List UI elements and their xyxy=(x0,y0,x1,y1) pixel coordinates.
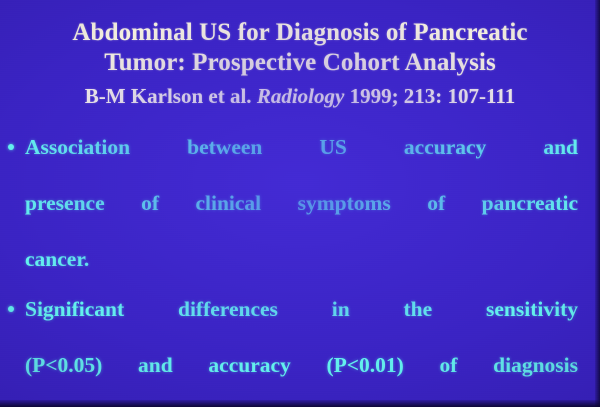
page-title-line-1: Abdominal US for Diagnosis of Pancreatic xyxy=(0,18,600,48)
bullet-significant-differences-text: Significant differences in the sensitivi… xyxy=(25,295,578,407)
bullet-line: presence of clinical symptoms of pancrea… xyxy=(25,189,578,245)
slide-title-block: Abdominal US for Diagnosis of Pancreatic… xyxy=(0,0,600,111)
bullet-line: (P<0.05) and accuracy (P<0.01) of diagno… xyxy=(25,351,578,407)
list-item: Association between US accuracy and pres… xyxy=(0,133,600,273)
bullet-line: Association between US accuracy and xyxy=(25,133,578,189)
bullet-dot-icon xyxy=(8,306,14,312)
citation-authors: B-M Karlson et al. xyxy=(85,84,252,108)
citation-line: B-M Karlson et al. Radiology 1999; 213: … xyxy=(0,81,600,111)
bullet-line: Significant differences in the sensitivi… xyxy=(25,295,578,351)
bullet-dot-icon xyxy=(8,144,14,150)
slide-body: Association between US accuracy and pres… xyxy=(0,133,600,407)
citation-journal: Radiology xyxy=(257,84,345,108)
page-title-line-2: Tumor: Prospective Cohort Analysis xyxy=(0,48,600,78)
bullet-association-text: Association between US accuracy and pres… xyxy=(25,133,578,273)
list-item: Significant differences in the sensitivi… xyxy=(0,295,600,407)
citation-details: 1999; 213: 107-111 xyxy=(350,84,516,108)
slide-content: Abdominal US for Diagnosis of Pancreatic… xyxy=(0,0,600,407)
bullet-line: cancer. xyxy=(25,245,578,273)
presentation-slide: Abdominal US for Diagnosis of Pancreatic… xyxy=(0,0,600,407)
